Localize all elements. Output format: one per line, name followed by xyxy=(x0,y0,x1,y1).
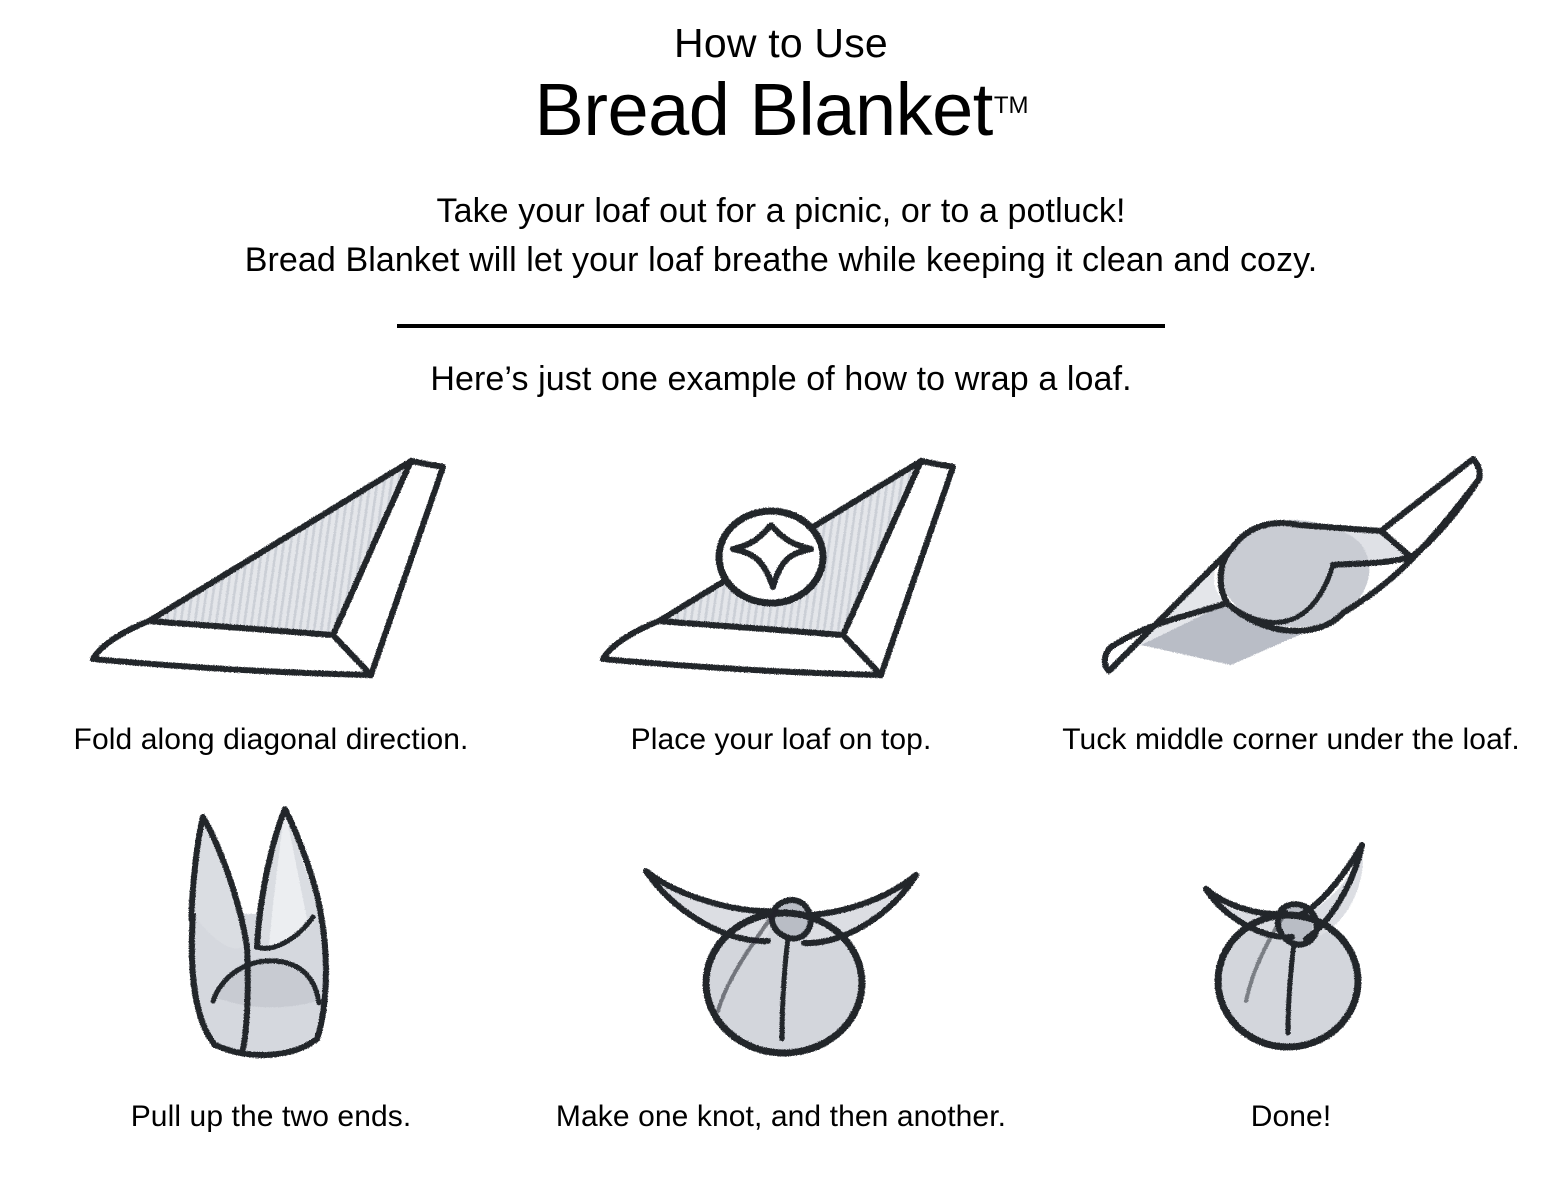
folded-triangle-cloth-icon xyxy=(71,439,471,689)
step-1: Fold along diagonal direction. xyxy=(16,421,526,757)
step-6-caption: Done! xyxy=(1251,1100,1332,1134)
step-6-illustration xyxy=(1036,785,1546,1070)
step-1-illustration xyxy=(16,421,526,689)
horizontal-divider xyxy=(397,324,1165,328)
finished-wrapped-loaf-icon xyxy=(1166,795,1416,1070)
knotted-bundle-icon xyxy=(616,795,946,1070)
cloth-tucked-under-loaf-icon xyxy=(1081,439,1501,689)
step-1-caption: Fold along diagonal direction. xyxy=(74,723,469,757)
page-header: How to Use Bread BlanketTM Take your loa… xyxy=(0,0,1562,399)
tagline: Take your loaf out for a picnic, or to a… xyxy=(0,187,1562,286)
step-2: Place your loaf on top. xyxy=(526,421,1036,757)
steps-row-1: Fold along diagonal direction. xyxy=(0,421,1562,757)
step-5-illustration xyxy=(526,785,1036,1070)
trademark-symbol: TM xyxy=(994,92,1029,119)
brand-title: Bread BlanketTM xyxy=(0,73,1562,147)
triangle-cloth-with-loaf-icon xyxy=(581,439,981,689)
step-2-illustration xyxy=(526,421,1036,689)
step-6: Done! xyxy=(1036,785,1546,1134)
step-5-caption: Make one knot, and then another. xyxy=(556,1100,1006,1134)
step-4: Pull up the two ends. xyxy=(16,785,526,1134)
brand-name: Bread Blanket xyxy=(534,68,992,151)
step-2-caption: Place your loaf on top. xyxy=(631,723,932,757)
two-ends-pulled-up-icon xyxy=(141,795,401,1070)
divider-wrap xyxy=(0,324,1562,328)
steps-row-2: Pull up the two ends. xyxy=(0,785,1562,1134)
step-3: Tuck middle corner under the loaf. xyxy=(1036,421,1546,757)
step-4-caption: Pull up the two ends. xyxy=(131,1100,412,1134)
step-4-illustration xyxy=(16,785,526,1070)
step-5: Make one knot, and then another. xyxy=(526,785,1036,1134)
example-note: Here’s just one example of how to wrap a… xyxy=(0,360,1562,399)
tagline-line-1: Take your loaf out for a picnic, or to a… xyxy=(436,192,1125,230)
tagline-line-2: Bread Blanket will let your loaf breathe… xyxy=(0,236,1562,285)
header-kicker: How to Use xyxy=(0,22,1562,65)
step-3-caption: Tuck middle corner under the loaf. xyxy=(1062,723,1520,757)
step-3-illustration xyxy=(1036,421,1546,689)
